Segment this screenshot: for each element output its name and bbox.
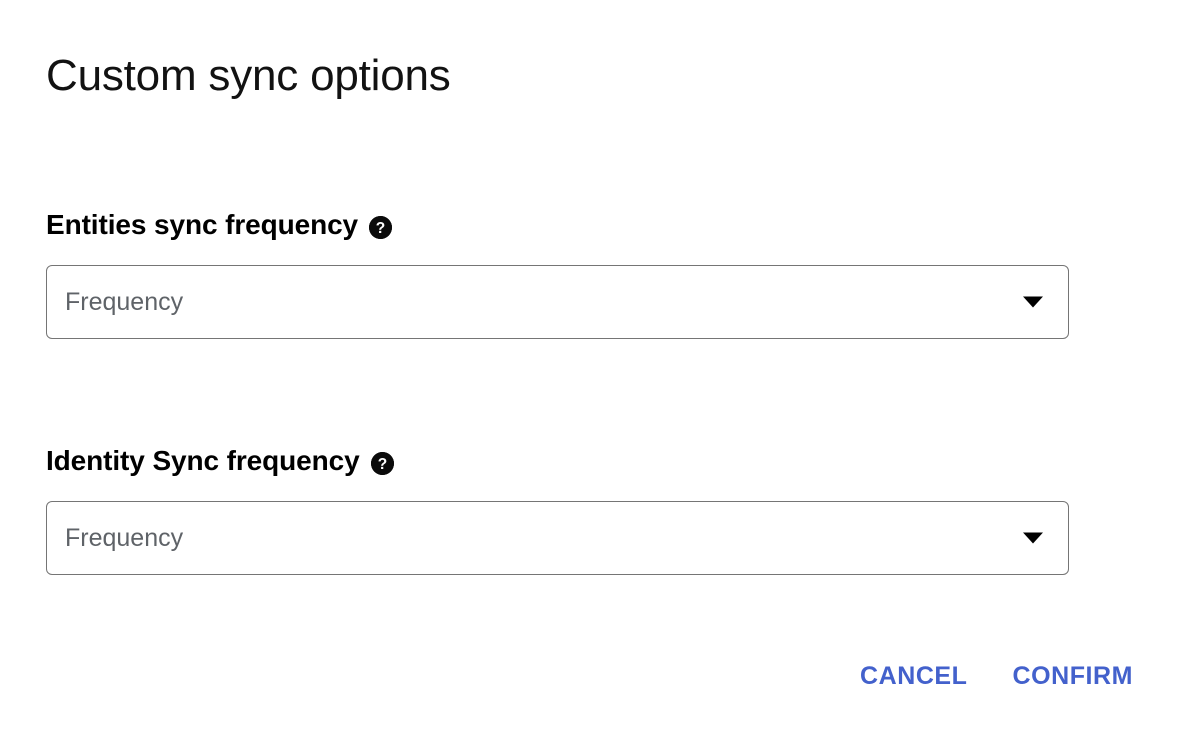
identity-sync-frequency-select[interactable]: Frequency xyxy=(46,501,1069,575)
svg-text:?: ? xyxy=(376,220,385,237)
entities-sync-frequency-field: Entities sync frequency ? Frequency xyxy=(46,208,1069,339)
identity-sync-frequency-label-row: Identity Sync frequency ? xyxy=(46,444,1069,478)
chevron-down-icon[interactable] xyxy=(1023,297,1043,308)
cancel-button[interactable]: CANCEL xyxy=(848,655,979,697)
svg-text:?: ? xyxy=(377,456,386,473)
chevron-down-icon[interactable] xyxy=(1023,533,1043,544)
dialog-title: Custom sync options xyxy=(46,50,451,102)
identity-sync-frequency-field: Identity Sync frequency ? Frequency xyxy=(46,444,1069,575)
entities-sync-frequency-placeholder: Frequency xyxy=(65,287,183,317)
entities-sync-frequency-label-row: Entities sync frequency ? xyxy=(46,208,1069,242)
entities-sync-frequency-label: Entities sync frequency xyxy=(46,208,358,242)
entities-sync-frequency-select[interactable]: Frequency xyxy=(46,265,1069,339)
dialog-actions: CANCEL CONFIRM xyxy=(848,655,1145,697)
identity-sync-frequency-label: Identity Sync frequency xyxy=(46,444,360,478)
help-circle-icon[interactable]: ? xyxy=(371,452,394,475)
identity-sync-frequency-placeholder: Frequency xyxy=(65,523,183,553)
confirm-button[interactable]: CONFIRM xyxy=(1000,655,1145,697)
custom-sync-options-dialog: Custom sync options Entities sync freque… xyxy=(0,0,1196,741)
help-circle-icon[interactable]: ? xyxy=(369,216,392,239)
